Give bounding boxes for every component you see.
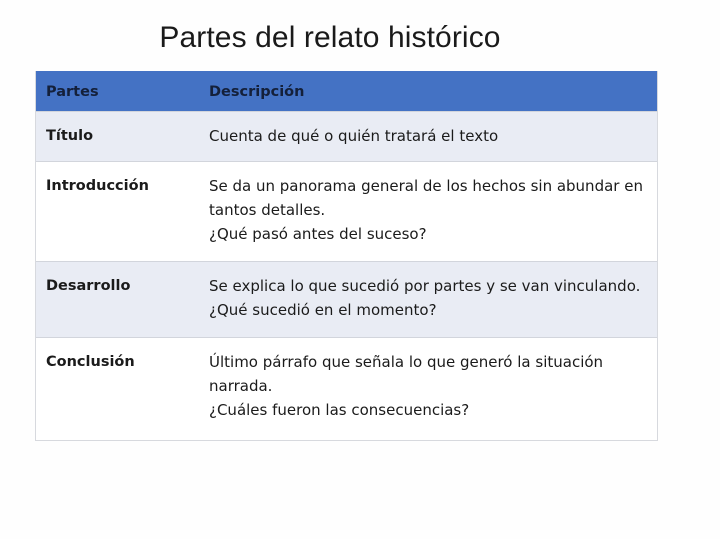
table-header-row: Partes Descripción	[36, 71, 657, 111]
parts-of-historical-account-table: Partes Descripción Título Cuenta de qué …	[35, 71, 658, 441]
part-description-cell: Se da un panorama general de los hechos …	[208, 162, 657, 261]
page-title: Partes del relato histórico	[0, 21, 660, 55]
part-description-cell: Último párrafo que señala lo que generó …	[208, 338, 657, 440]
table-row: Título Cuenta de qué o quién tratará el …	[36, 111, 657, 161]
table-row: Conclusión Último párrafo que señala lo …	[36, 337, 657, 440]
slide-canvas: Partes del relato histórico Partes Descr…	[0, 0, 720, 539]
part-description-cell: Se explica lo que sucedió por partes y s…	[208, 262, 657, 337]
table-row: Introducción Se da un panorama general d…	[36, 161, 657, 261]
part-name-cell: Conclusión	[36, 338, 208, 392]
part-name-cell: Desarrollo	[36, 262, 208, 313]
part-name-cell: Introducción	[36, 162, 208, 213]
column-header-descripcion: Descripción	[208, 74, 657, 110]
part-description-cell: Cuenta de qué o quién tratará el texto	[208, 112, 657, 161]
column-header-partes: Partes	[36, 74, 208, 110]
part-name-cell: Título	[36, 112, 208, 161]
table-row: Desarrollo Se explica lo que sucedió por…	[36, 261, 657, 337]
